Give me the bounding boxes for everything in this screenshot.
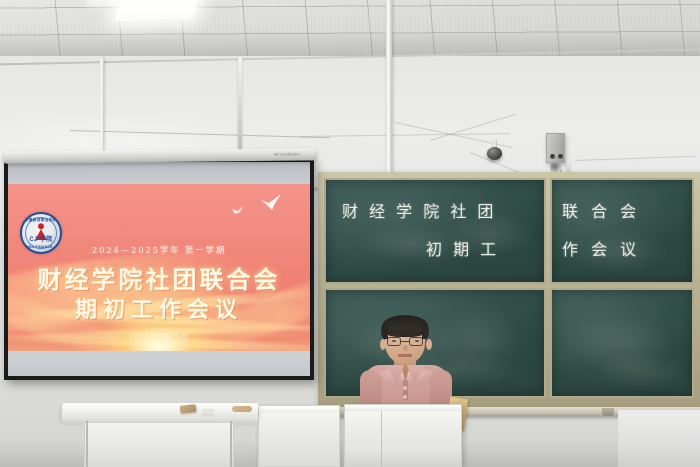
blackboard-text-line-2b: 作 会 议 — [562, 236, 640, 260]
teacher-desk[interactable] — [62, 403, 258, 467]
ceiling-light-panel — [114, 0, 199, 21]
blackboard-panel-upper-right: 联 合 会 作 会 议 — [550, 178, 694, 284]
slide-date: 2024年9月11日 — [8, 330, 310, 340]
shirt-button — [403, 386, 407, 390]
dove-large-icon — [260, 194, 282, 211]
desk-body — [84, 423, 234, 467]
presentation-slide: 安徽财贸职业学院 CJ 学院 ANHUI FINANCE & TRADE COL… — [8, 184, 310, 351]
camera-dome — [487, 147, 502, 160]
wall-crack — [575, 156, 695, 161]
side-cabinet-top — [259, 406, 339, 413]
person-mouth — [398, 354, 412, 357]
screen-brand-label: MITSUBISHI — [274, 152, 300, 157]
conduit-pipe — [238, 57, 242, 159]
glasses-lens-left — [387, 337, 401, 346]
projection-screen: 安徽财贸职业学院 CJ 学院 ANHUI FINANCE & TRADE COL… — [4, 158, 314, 380]
chalk-smudge — [592, 352, 688, 390]
side-cabinet[interactable] — [258, 405, 340, 467]
slide-title-line-1: 财经学院社团联合会 — [8, 260, 310, 295]
glasses-lens-right — [409, 337, 423, 346]
blackboard-text-line-2a: 初 期 工 — [426, 236, 499, 260]
classroom-photo: MITSUBISHI 安徽财贸职业学院 — [0, 0, 700, 467]
lectern-panel-seam — [381, 411, 382, 467]
wall-control-box[interactable] — [546, 133, 565, 163]
glasses-bridge — [401, 341, 409, 342]
blackboard-text-line-1a: 财 经 学 院 社 团 — [342, 198, 496, 222]
lectern[interactable] — [344, 404, 462, 467]
dome-security-camera-icon — [487, 140, 502, 160]
slide-subtitle: 2024—2025学年 第一学期 — [8, 244, 310, 256]
blackboard-panel-lower-right — [550, 288, 694, 398]
emblem-center-text: CJ 学院 — [22, 234, 60, 243]
person-eyebrow-right — [410, 334, 421, 336]
shirt-button — [403, 395, 407, 399]
projection-screen-surface: 安徽财贸职业学院 CJ 学院 ANHUI FINANCE & TRADE COL… — [8, 162, 310, 376]
control-knob[interactable] — [558, 154, 563, 159]
dove-small-icon — [232, 206, 244, 215]
control-knob[interactable] — [550, 154, 555, 159]
desk-object-paper[interactable] — [232, 406, 252, 412]
emblem-figure-head — [38, 223, 44, 229]
wall-crack — [430, 114, 516, 141]
desk-leg — [230, 421, 232, 467]
person-eyebrow-left — [389, 334, 400, 336]
projector-mount-pole — [386, 0, 392, 188]
person-nose — [403, 345, 408, 351]
desk-leg — [86, 421, 88, 467]
desk-object-card[interactable] — [180, 404, 197, 414]
right-floor-panel — [618, 410, 700, 467]
desk-object-remote[interactable] — [202, 409, 214, 414]
person-ear-right — [426, 339, 432, 350]
slide-title-line-2: 期初工作会议 — [8, 292, 310, 324]
conduit-pipe — [100, 58, 104, 152]
chalk-ledge-clip — [602, 408, 614, 416]
lectern-top-surface — [345, 405, 461, 411]
screen-blank-bottom — [8, 351, 310, 376]
blackboard-panel-upper-left: 财 经 学 院 社 团 初 期 工 — [324, 178, 546, 284]
wall-crack — [300, 133, 510, 137]
screen-blank-top — [8, 162, 310, 184]
blackboard-text-line-1b: 联 合 会 — [562, 198, 640, 222]
